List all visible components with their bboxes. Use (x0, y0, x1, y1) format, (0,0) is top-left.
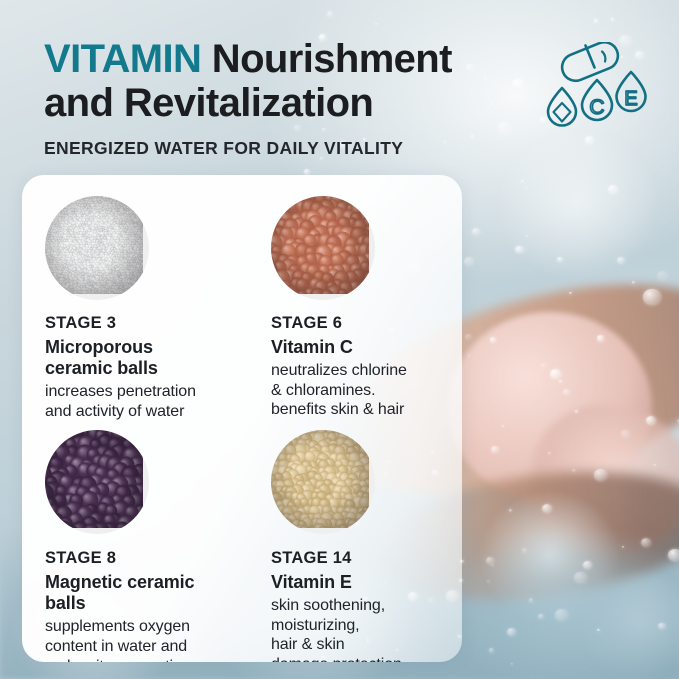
stage-name-line-1: Microporous (45, 337, 153, 357)
stage-description: increases penetration and activity of wa… (45, 382, 271, 421)
water-droplet (597, 335, 605, 342)
water-droplet (643, 289, 660, 305)
stage-desc-line-3: benefits skin & hair (271, 401, 404, 418)
stage-description: skin soothening, moisturizing, hair & sk… (271, 596, 462, 662)
water-droplet (541, 363, 546, 368)
vitamin-icon-cluster: C E (545, 42, 655, 142)
vitamin-e-letter: E (624, 88, 637, 110)
stage-desc-line-1: neutralizes chlorine (271, 362, 407, 379)
water-droplet (464, 257, 474, 266)
stage-description: supplements oxygen content in water and … (45, 617, 271, 662)
bead-image-stage-8 (45, 430, 149, 534)
header: VITAMIN Nourishment and Revitalization E… (44, 38, 584, 159)
stage-desc-line-1: increases penetration (45, 383, 196, 400)
stage-item-8: STAGE 8 Magnetic ceramic balls supplemen… (45, 430, 271, 662)
water-droplet (575, 410, 578, 413)
bead-image-stage-6 (271, 196, 375, 300)
water-droplet (548, 452, 551, 454)
stage-grid: STAGE 3 Microporous ceramic balls increa… (22, 175, 462, 662)
stage-desc-line-1: skin soothening, (271, 597, 385, 614)
stage-description: neutralizes chlorine & chloramines. bene… (271, 361, 462, 420)
title-accent-word: VITAMIN (44, 37, 201, 81)
water-droplet (507, 628, 516, 636)
water-droplet (491, 564, 494, 567)
stage-desc-line-1: supplements oxygen (45, 618, 190, 635)
water-droplet (657, 271, 668, 281)
stage-desc-line-3: hair & skin (271, 636, 345, 653)
water-droplet (641, 538, 651, 547)
water-droplet (597, 629, 600, 631)
water-droplet (465, 334, 471, 340)
stages-card: STAGE 3 Microporous ceramic balls increa… (22, 175, 462, 662)
stage-item-14: STAGE 14 Vitamin E skin soothening, mois… (271, 430, 462, 662)
water-droplet (542, 504, 552, 513)
stage-desc-line-2: moisturizing, (271, 617, 360, 634)
stage-desc-line-3: makes it more active (45, 658, 190, 663)
water-droplet (594, 469, 607, 481)
stage-name: Vitamin E (271, 572, 462, 593)
stage-item-6: STAGE 6 Vitamin C neutralizes chlorine &… (271, 196, 462, 430)
bead-image-stage-3 (45, 196, 149, 300)
stage-desc-line-2: content in water and (45, 638, 187, 655)
vitamin-c-letter: C (589, 96, 604, 119)
water-droplet (594, 19, 598, 22)
stage-desc-line-2: & chloramines. (271, 382, 375, 399)
water-droplet (502, 425, 504, 427)
water-droplet (621, 430, 629, 437)
title-rest: Nourishment (201, 37, 452, 81)
stage-desc-line-4: damage protection (271, 656, 402, 662)
stage-label: STAGE 14 (271, 549, 462, 568)
water-droplet (574, 572, 587, 583)
stage-name: Vitamin C (271, 337, 462, 358)
water-droplet (521, 180, 524, 183)
water-droplet (646, 416, 656, 425)
water-droplet (468, 354, 471, 356)
water-droplet (559, 380, 562, 383)
water-droplet (487, 580, 490, 583)
water-droplet (538, 614, 544, 619)
stage-name-line-1: Magnetic ceramic (45, 572, 194, 592)
bead-image-stage-14 (271, 430, 375, 534)
water-droplet (529, 598, 534, 602)
stage-item-3: STAGE 3 Microporous ceramic balls increa… (45, 196, 271, 430)
water-droplet (583, 561, 592, 569)
droplet-vitamin-e-icon: E (617, 72, 646, 111)
water-droplet (563, 389, 570, 395)
water-droplet (327, 11, 334, 17)
water-droplet (608, 185, 618, 194)
water-droplet (511, 663, 513, 665)
droplet-gem-icon (548, 88, 576, 126)
title-line-2: and Revitalization (44, 81, 373, 125)
stage-label: STAGE 3 (45, 314, 271, 333)
page-title: VITAMIN Nourishment and Revitalization (44, 38, 584, 125)
stage-desc-line-2: and activity of water (45, 403, 184, 420)
water-droplet (515, 246, 523, 253)
water-droplet (668, 549, 679, 562)
water-droplet (555, 609, 568, 620)
stage-label: STAGE 8 (45, 549, 271, 568)
water-droplet (658, 623, 665, 630)
pill-capsule-icon (558, 42, 622, 85)
stage-label: STAGE 6 (271, 314, 462, 333)
water-droplet (617, 257, 625, 264)
stage-name-line-2: ceramic balls (45, 358, 158, 378)
stage-name-line-2: balls (45, 593, 86, 613)
droplet-vitamin-c-icon: C (582, 80, 612, 120)
stage-name: Magnetic ceramic balls (45, 572, 271, 614)
page-subtitle: ENERGIZED WATER FOR DAILY VITALITY (44, 138, 584, 159)
water-droplet (525, 186, 528, 189)
stage-name: Microporous ceramic balls (45, 337, 271, 379)
